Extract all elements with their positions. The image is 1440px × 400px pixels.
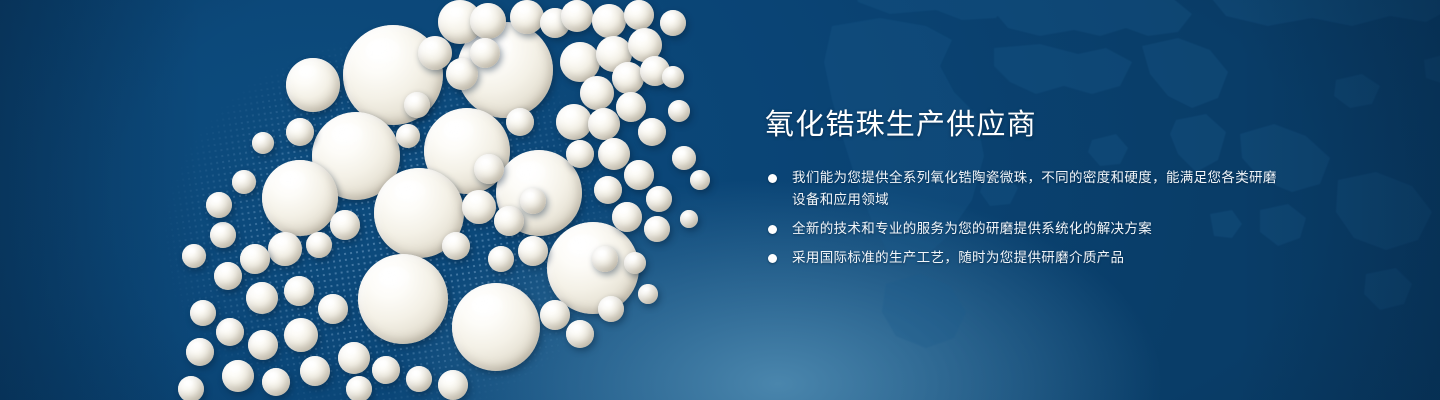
list-item-label: 全新的技术和专业的服务为您的研磨提供系统化的解决方案 bbox=[792, 221, 1152, 236]
list-item: 采用国际标准的生产工艺，随时为您提供研磨介质产品 bbox=[765, 247, 1285, 269]
list-item: 我们能为您提供全系列氧化锆陶瓷微珠，不同的密度和硬度，能满足您各类研磨设备和应用… bbox=[765, 167, 1285, 211]
bullet-dot-icon bbox=[768, 225, 777, 234]
bullet-dot-icon bbox=[768, 254, 777, 263]
hero-banner: 氧化锆珠生产供应商 我们能为您提供全系列氧化锆陶瓷微珠，不同的密度和硬度，能满足… bbox=[0, 0, 1440, 400]
banner-title: 氧化锆珠生产供应商 bbox=[765, 108, 1285, 142]
list-item: 全新的技术和专业的服务为您的研磨提供系统化的解决方案 bbox=[765, 218, 1285, 240]
banner-content: 氧化锆珠生产供应商 我们能为您提供全系列氧化锆陶瓷微珠，不同的密度和硬度，能满足… bbox=[765, 108, 1285, 269]
zirconia-beads-image bbox=[0, 0, 780, 400]
list-item-label: 采用国际标准的生产工艺，随时为您提供研磨介质产品 bbox=[792, 250, 1124, 265]
bullet-dot-icon bbox=[768, 174, 777, 183]
list-item-label: 我们能为您提供全系列氧化锆陶瓷微珠，不同的密度和硬度，能满足您各类研磨设备和应用… bbox=[792, 170, 1277, 207]
banner-feature-list: 我们能为您提供全系列氧化锆陶瓷微珠，不同的密度和硬度，能满足您各类研磨设备和应用… bbox=[765, 167, 1285, 269]
